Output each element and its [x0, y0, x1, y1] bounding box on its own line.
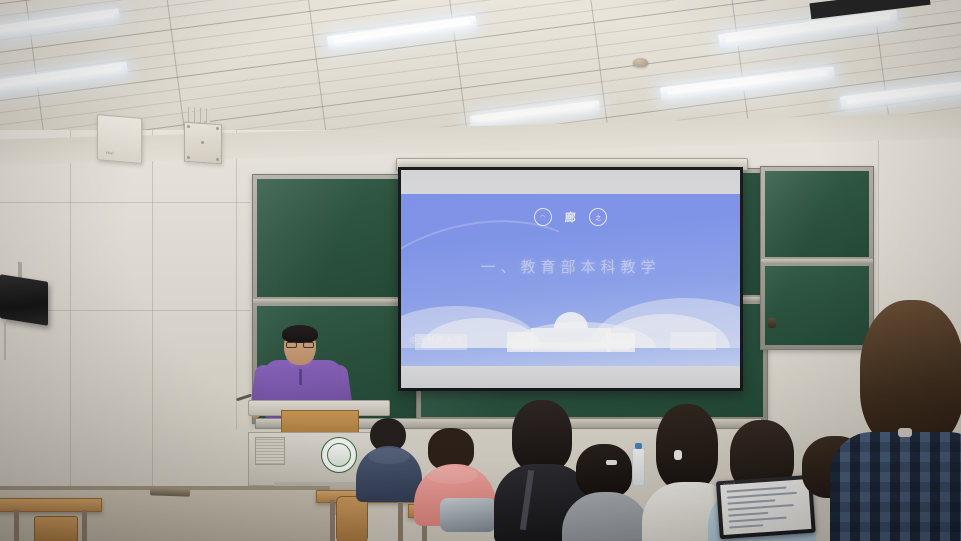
hoodie-hood — [368, 448, 410, 464]
smoke-detector-icon — [633, 58, 648, 67]
screen-top-margin — [401, 170, 740, 194]
student-plaid-shirt — [846, 300, 961, 541]
student-grey-top — [566, 444, 644, 541]
building-wordmark-logo: 廊 — [565, 209, 577, 225]
student-hair — [576, 444, 632, 498]
student-hair — [512, 400, 572, 472]
wall-hook — [768, 318, 776, 328]
student-body — [830, 432, 961, 541]
slide-watermark: 中国地质大学 — [409, 335, 463, 346]
wall-mounted-monitor — [0, 274, 48, 326]
lecture-hall-photo: Hivi — [0, 0, 961, 541]
student-navy-hoodie — [358, 418, 420, 498]
circular-emblem-logo: 之 — [589, 208, 607, 226]
hair-clip — [606, 460, 617, 465]
speaker-brand-label: Hivi — [106, 150, 114, 156]
hoodie-hood — [426, 466, 478, 484]
student-hair — [860, 300, 961, 448]
lectern-speaker-grille — [255, 437, 285, 465]
presenter-glasses-icon — [286, 342, 314, 348]
wall-speaker: Hivi — [97, 114, 142, 164]
seal-glyph: ◠ — [540, 214, 545, 221]
electrical-junction-box — [184, 122, 222, 165]
tv-cable — [4, 320, 6, 360]
screen-bottom-margin — [401, 366, 740, 388]
emblem-glyph: 之 — [595, 213, 601, 222]
screen-surface: ◠ 廊 之 一、教育部本科教学 — [401, 170, 740, 388]
university-seal-logo: ◠ — [534, 208, 552, 226]
slide-campus-name — [512, 342, 630, 350]
university-crest-icon — [321, 437, 357, 473]
power-strip — [150, 487, 190, 496]
student-hair — [656, 404, 718, 490]
presentation-slide: ◠ 廊 之 一、教育部本科教学 — [401, 194, 740, 366]
projection-screen: ◠ 廊 之 一、教育部本科教学 — [398, 167, 743, 391]
slide-building-right — [670, 332, 716, 350]
earphone-icon — [898, 428, 912, 437]
earphone-icon — [674, 450, 682, 460]
slide-logo-row: ◠ 廊 之 — [401, 208, 740, 226]
chair-left — [34, 516, 78, 541]
slide-title: 一、教育部本科教学 — [401, 256, 740, 277]
presenter-hair — [282, 325, 318, 343]
backpack — [440, 498, 496, 532]
slide-campus-illustration — [507, 318, 635, 352]
presenter-placket — [299, 369, 302, 385]
student-body — [562, 492, 650, 541]
chair-row1 — [336, 496, 368, 541]
